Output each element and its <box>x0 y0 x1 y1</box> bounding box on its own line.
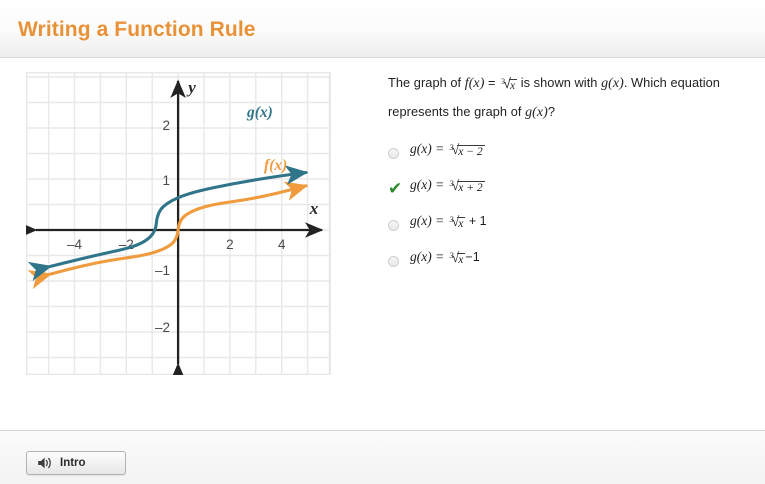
option-a-marker[interactable] <box>388 140 410 164</box>
y-axis-label: y <box>186 78 196 97</box>
radical-body: x <box>457 253 465 267</box>
option-a[interactable]: g(x) = 3√x − 2 <box>388 140 728 176</box>
svg-text:2: 2 <box>162 118 170 133</box>
radical-body: x − 2 <box>457 145 484 159</box>
option-b-text: g(x) = 3√x + 2 <box>410 176 485 195</box>
question-panel: The graph of f(x) = 3√x is shown with g(… <box>388 70 728 284</box>
option-c-text: g(x) = 3√x + 1 <box>410 212 487 231</box>
option-d-radical: 3√x <box>448 250 466 267</box>
svg-text:–2: –2 <box>155 320 170 335</box>
graph-svg: x y –4 –2 2 4 2 1 –1 –2 g(x) f(x) <box>26 72 331 375</box>
options-list: g(x) = 3√x − 2 ✔ g(x) = 3√x + 2 g(x) = 3… <box>388 140 728 284</box>
question-prompt: The graph of f(x) = 3√x is shown with g(… <box>388 70 728 126</box>
option-b[interactable]: ✔ g(x) = 3√x + 2 <box>388 176 728 212</box>
radical-body: x <box>457 217 465 231</box>
check-icon: ✔ <box>388 181 402 198</box>
option-d-text: g(x) = 3√x−1 <box>410 248 480 267</box>
main-content: x y –4 –2 2 4 2 1 –1 –2 g(x) f(x) <box>0 58 765 430</box>
radio-button-icon[interactable] <box>388 148 399 159</box>
svg-text:4: 4 <box>278 237 286 252</box>
option-b-lhs: g(x) = <box>410 177 448 192</box>
svg-text:1: 1 <box>162 173 170 188</box>
question-line1-a: The graph of <box>388 75 465 90</box>
radical-body: x <box>509 79 517 93</box>
question-line1-b: is shown with <box>517 75 601 90</box>
page-title: Writing a Function Rule <box>18 18 256 42</box>
option-c[interactable]: g(x) = 3√x + 1 <box>388 212 728 248</box>
option-a-radical: 3√x − 2 <box>448 142 485 159</box>
option-c-marker[interactable] <box>388 212 410 236</box>
question-line1-c: . Which <box>624 75 667 90</box>
x-axis-label: x <box>309 199 319 218</box>
svg-text:–1: –1 <box>155 263 170 278</box>
option-d-lhs: g(x) = <box>410 249 448 264</box>
option-b-radical: 3√x + 2 <box>448 178 485 195</box>
question-line2-b: ? <box>548 104 555 119</box>
option-b-marker[interactable]: ✔ <box>388 176 410 200</box>
intro-button[interactable]: Intro <box>26 451 126 475</box>
question-equals: = <box>484 75 499 90</box>
function-graph: x y –4 –2 2 4 2 1 –1 –2 g(x) f(x) <box>26 72 331 375</box>
option-c-radical: 3√x <box>448 214 466 231</box>
radio-button-icon[interactable] <box>388 256 399 267</box>
option-d[interactable]: g(x) = 3√x−1 <box>388 248 728 284</box>
radio-button-icon[interactable] <box>388 220 399 231</box>
question-gx: g(x) <box>601 76 624 91</box>
app-header: Writing a Function Rule <box>0 0 765 58</box>
option-a-lhs: g(x) = <box>410 141 448 156</box>
curve-label-fx: f(x) <box>264 157 287 174</box>
option-a-text: g(x) = 3√x − 2 <box>410 140 485 159</box>
radical-body: x + 2 <box>457 181 484 195</box>
intro-button-label: Intro <box>60 457 86 469</box>
question-fx: f(x) <box>465 76 485 91</box>
question-radical: 3√x <box>499 70 517 99</box>
curve-label-gx: g(x) <box>246 104 273 121</box>
option-c-suffix: + 1 <box>465 214 486 228</box>
option-d-marker[interactable] <box>388 248 410 272</box>
option-d-suffix: −1 <box>465 250 479 264</box>
option-c-lhs: g(x) = <box>410 213 448 228</box>
question-gx2: g(x) <box>525 105 548 120</box>
footer-bar: Intro <box>0 430 765 484</box>
svg-text:–4: –4 <box>67 237 83 252</box>
svg-text:2: 2 <box>226 237 234 252</box>
speaker-icon <box>37 456 53 470</box>
